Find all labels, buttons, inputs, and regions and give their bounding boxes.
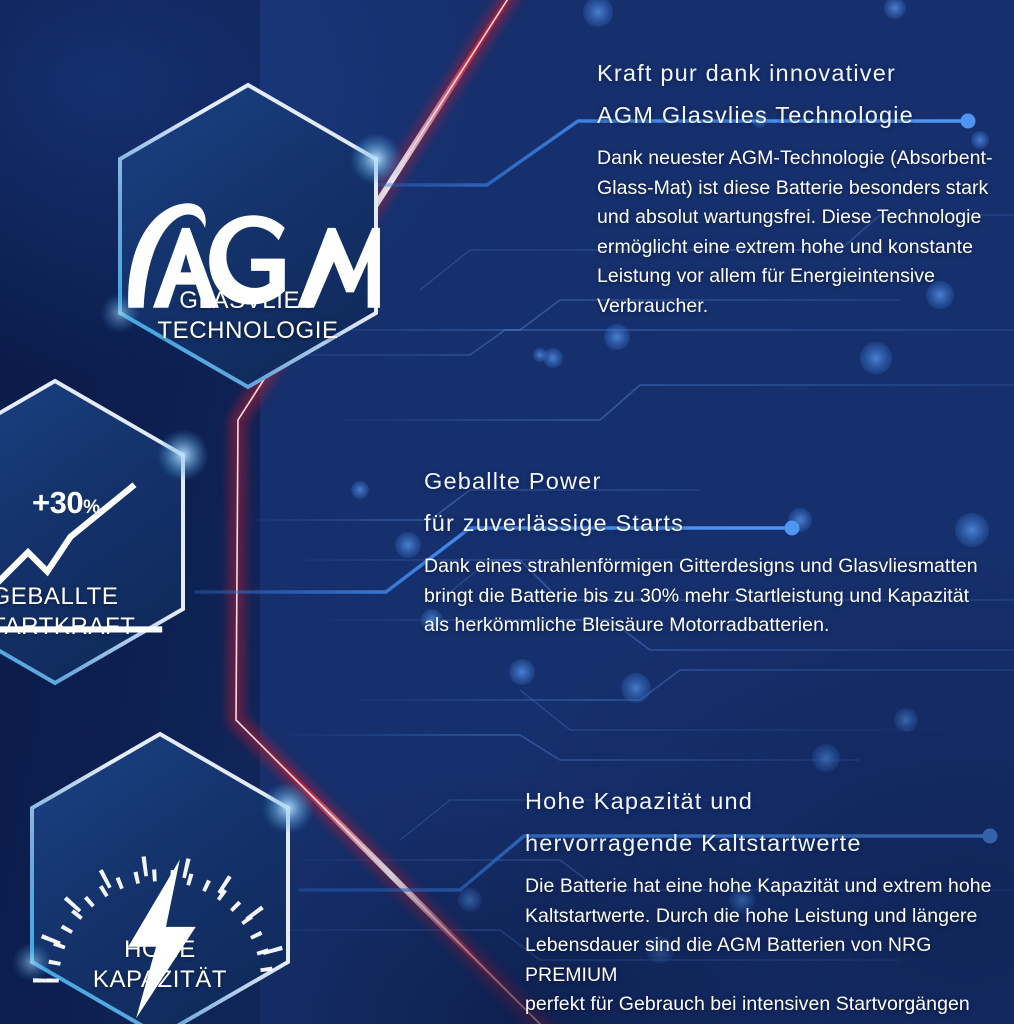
- infographic-root: GLASVLIES TECHNOLOGIE: [0, 0, 1014, 1024]
- badge-agm-glasvlies-technologie[interactable]: GLASVLIES TECHNOLOGIE: [113, 81, 383, 391]
- badge-geballte-startkraft[interactable]: +30% GEBALLTE STARTKRAFT: [0, 377, 190, 687]
- feature-text-hohe-kapazitaet: Hohe Kapazität und hervorragende Kaltsta…: [525, 780, 1014, 1024]
- badge-metric-value: +30: [32, 485, 83, 520]
- feature-heading-line1: Geballte Power: [424, 460, 978, 502]
- agm-logo-icon: [113, 99, 383, 409]
- feature-body: Dank neuester AGM-Technologie (Absorbent…: [597, 144, 993, 321]
- feature-body: Die Batterie hat eine hohe Kapazität und…: [525, 872, 1014, 1024]
- feature-heading-line1: Kraft pur dank innovativer: [597, 52, 993, 94]
- feature-text-geballte-startkraft: Geballte Power für zuverlässige Starts D…: [424, 460, 978, 641]
- rising-chart-icon: [0, 405, 190, 715]
- badge-metric-unit: %: [83, 497, 99, 518]
- feature-heading-line2: AGM Glasvlies Technologie: [597, 94, 993, 136]
- badge-hohe-kapazitaet[interactable]: HOHE KAPAZITÄT: [25, 730, 295, 1024]
- badge-metric: +30%: [32, 485, 100, 521]
- gauge-bolt-icon: [25, 756, 295, 1024]
- feature-text-agm-glasvlies-technologie: Kraft pur dank innovativer AGM Glasvlies…: [597, 52, 993, 321]
- feature-body: Dank eines strahlenförmigen Gitterdesign…: [424, 552, 978, 641]
- feature-heading-line2: hervorragende Kaltstartwerte: [525, 822, 1014, 864]
- feature-heading-line1: Hohe Kapazität und: [525, 780, 1014, 822]
- feature-heading-line2: für zuverlässige Starts: [424, 502, 978, 544]
